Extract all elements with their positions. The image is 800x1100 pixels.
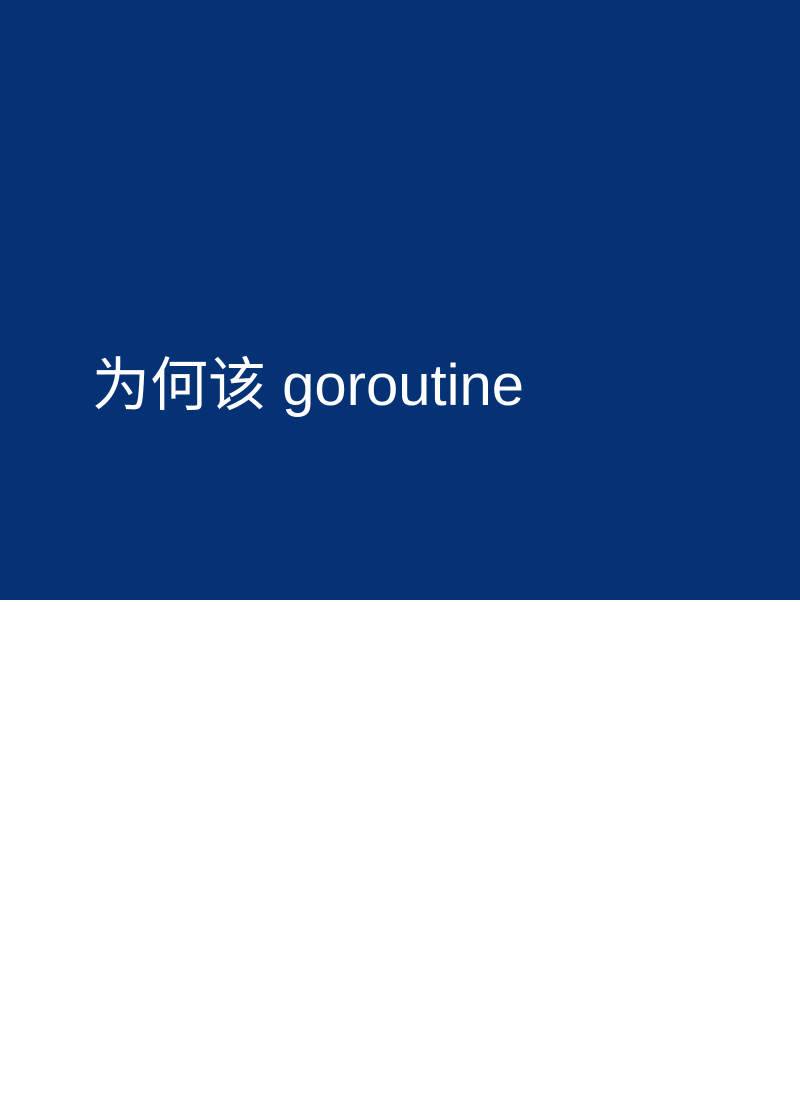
question-card: 为何该 goroutine 未触发 wg.Done () 呢 ？ xyxy=(0,0,800,600)
page-title: 为何该 goroutine 未触发 wg.Done () 呢 ？ xyxy=(92,176,612,1100)
headline-line-3: () 呢 ？ xyxy=(92,848,612,932)
headline-line-1: 为何该 goroutine xyxy=(92,344,612,428)
headline-line-2: 未触发 wg.Done xyxy=(92,596,612,680)
